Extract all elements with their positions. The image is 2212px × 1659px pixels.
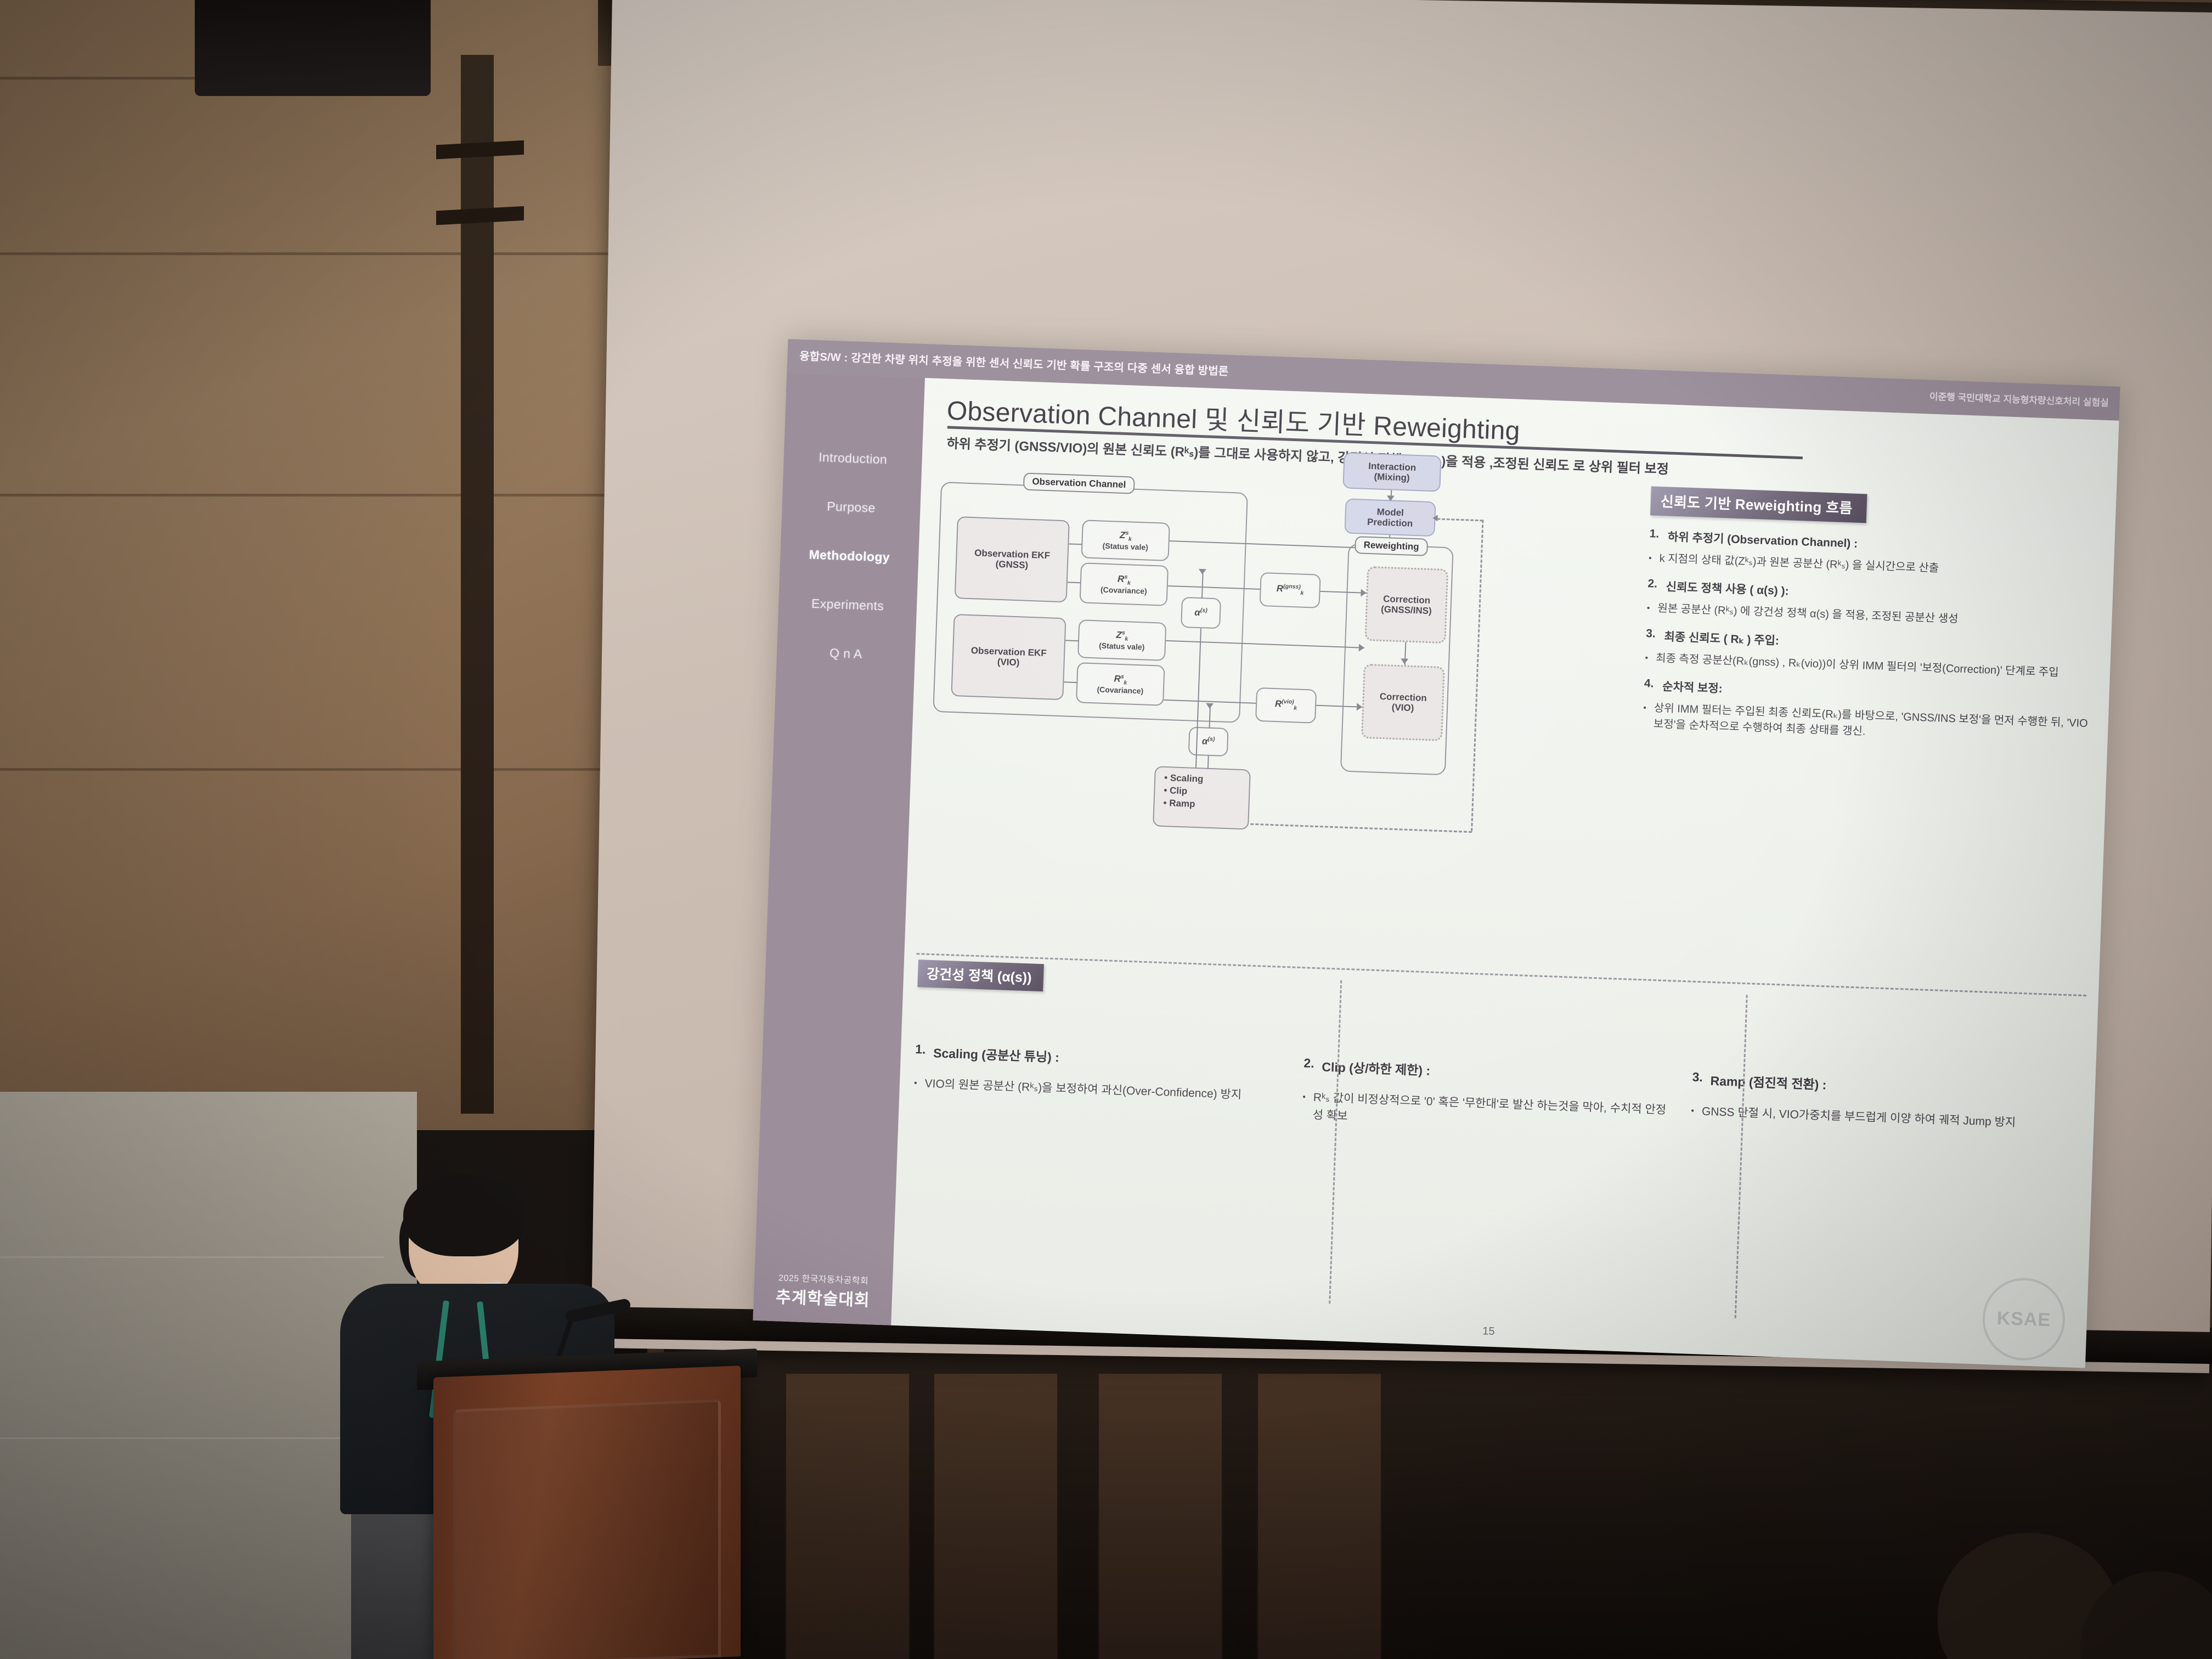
policy-column-ramp: 3. Ramp (점진적 전환) : • GNSS 단절 시, VIO가중치를 … (1690, 1070, 2081, 1151)
r-vio-box: Rsk (Covariance) (1076, 662, 1165, 706)
arrow-up-icon (1206, 703, 1214, 709)
item-body: 상위 IMM 필터는 주입된 최종 신뢰도(Rₖ)를 바탕으로, 'GNSS/I… (1653, 701, 2094, 748)
bullet-icon: • (1302, 1088, 1306, 1123)
slide-nav: Introduction Purpose Methodology Experim… (777, 449, 923, 664)
connector-alpha-lower (1207, 756, 1209, 769)
wall-line (0, 1256, 384, 1258)
r-vio-symbol: Rsk (1114, 673, 1127, 686)
ekf-gnss-line2: (GNSS) (995, 559, 1028, 571)
robustness-policy-section: 강건성 정책 (α(s)) 1. Scaling (공분산 튜닝) : • VI… (917, 960, 2084, 1029)
rk-vio-box: R(vio)k (1255, 687, 1317, 724)
z-gnss-caption: (Status vale) (1102, 541, 1148, 552)
reweighting-flow-panel: 신뢰도 기반 Reweighting 흐름 1. 하위 추정기 (Observa… (1643, 486, 2102, 748)
corr-vio-line1: Correction (1379, 691, 1427, 703)
alpha-policy-box-lower: α(s) (1188, 727, 1229, 757)
flow-diagram: Observation Channel Observation EKF (GNS… (921, 461, 1638, 919)
r-vio-caption: (Covariance) (1097, 685, 1143, 696)
correction-gnss-ins-box: Correction (GNSS/INS) (1364, 566, 1448, 644)
column-bullet: • GNSS 단절 시, VIO가중치를 부드럽게 이양 하여 궤적 Jump … (1691, 1103, 2063, 1133)
door-panel (1097, 1374, 1223, 1659)
model-line1: Model (1376, 506, 1404, 518)
z-vio-box: Zsk (Status vale) (1077, 619, 1166, 661)
rk-gnss-box: R(gnss)k (1260, 572, 1321, 608)
ekf-gnss-line1: Observation EKF (974, 548, 1051, 561)
bullet-icon: • (1643, 700, 1647, 732)
item-number: 4. (1644, 677, 1654, 694)
presentation-slide: 융합S/W : 강건한 차량 위치 추정을 위한 센서 신뢰도 기반 확률 구조… (753, 339, 2120, 1368)
ksae-watermark-logo: KSAE (1981, 1277, 2066, 1362)
item-body: k 지점의 상태 값(Zᵏₛ)과 원본 공분산 (Rᵏₛ) 을 실시간으로 산출 (1659, 551, 1939, 577)
z-vio-caption: (Status vale) (1099, 641, 1145, 652)
z-gnss-box: Zsk (Status vale) (1081, 520, 1170, 561)
r-gnss-caption: (Covariance) (1101, 585, 1147, 596)
column-divider (1329, 980, 1342, 1304)
policy-column-clip: 2. Clip (상/하한 제한) : • Rᵏₛ 값이 비정상적으로 '0' … (1302, 1056, 1693, 1137)
ceiling-speaker (195, 0, 431, 96)
column-title: Scaling (공분산 튜닝) : (933, 1042, 1060, 1065)
policy-column-scaling: 1. Scaling (공분산 튜닝) : • VIO의 원본 공분산 (Rᵏₛ… (913, 1042, 1304, 1123)
wall-seam (0, 494, 631, 496)
slide-page-number: 15 (1482, 1325, 1495, 1338)
alpha-symbol-lower: α(s) (1202, 736, 1215, 747)
column-body: VIO의 원본 공분산 (Rᵏₛ)을 보정하여 과신(Over-Confiden… (924, 1075, 1242, 1104)
r-gnss-symbol: Rsk (1118, 573, 1131, 586)
bullet-icon: • (1646, 600, 1650, 616)
column-header: 1. Scaling (공분산 튜닝) : (915, 1042, 1287, 1074)
wooden-podium (433, 1365, 741, 1659)
column-bullet: • Rᵏₛ 값이 비정상적으로 '0' 혹은 '무한대'로 발산 하는것을 막아… (1302, 1088, 1675, 1136)
column-divider (1735, 995, 1748, 1318)
sidebar-item-methodology[interactable]: Methodology (809, 548, 890, 565)
podium-front-panel (453, 1400, 721, 1659)
door-panel (1256, 1374, 1383, 1659)
feedback-loop-dashed-top (1437, 518, 1483, 521)
column-number: 1. (915, 1042, 926, 1061)
wall-seam (0, 768, 631, 771)
rk-gnss-symbol: R(gnss)k (1276, 583, 1304, 597)
wall-line (0, 1437, 384, 1439)
bullet-icon: • (1645, 650, 1649, 666)
feedback-loop-dashed (1471, 520, 1483, 831)
correction-vio-box: Correction (VIO) (1361, 664, 1445, 741)
arrow-left-icon (1432, 515, 1437, 521)
item-number: 2. (1647, 577, 1658, 594)
arrow-up-icon (1199, 569, 1206, 574)
observation-ekf-gnss-box: Observation EKF (GNSS) (955, 516, 1070, 602)
interaction-mixing-box: Interaction (Mixing) (1342, 452, 1441, 492)
bullet-icon: • (1649, 550, 1652, 566)
column-number: 3. (1692, 1070, 1703, 1089)
door-panel (785, 1374, 911, 1659)
bullet-icon: • (913, 1075, 917, 1092)
interaction-line2: (Mixing) (1374, 471, 1410, 483)
z-gnss-symbol: Zsk (1119, 529, 1132, 543)
arrow-right-icon (1359, 644, 1364, 651)
observation-ekf-vio-box: Observation EKF (VIO) (951, 614, 1066, 700)
model-line2: Prediction (1367, 517, 1413, 529)
policy-columns: 1. Scaling (공분산 튜닝) : • VIO의 원본 공분산 (Rᵏₛ… (913, 1042, 2081, 1151)
reweighting-ribbon: 신뢰도 기반 Reweighting 흐름 (1650, 486, 1867, 523)
column-header: 2. Clip (상/하한 제한) : (1304, 1056, 1676, 1087)
arrow-right-icon (1361, 589, 1366, 597)
model-prediction-box: Model Prediction (1344, 498, 1436, 537)
item-title: 최종 신뢰도 ( Rₖ ) 주입: (1664, 628, 1779, 648)
item-title: 하위 추정기 (Observation Channel) : (1668, 528, 1858, 551)
alpha-symbol-upper: α(s) (1194, 607, 1207, 618)
reweighting-label: Reweighting (1355, 536, 1428, 556)
conference-logo-name: 추계학술대회 (775, 1283, 870, 1311)
policy-bullets-box: Scaling Clip Ramp (1153, 766, 1251, 830)
sidebar-item-qna[interactable]: Q n A (830, 646, 862, 662)
sidebar-item-introduction[interactable]: Introduction (819, 450, 888, 467)
bullet-icon: • (1691, 1103, 1695, 1120)
item-title: 순차적 보정: (1662, 678, 1723, 696)
arrow-right-icon (1357, 703, 1362, 710)
ekf-vio-line1: Observation EKF (970, 645, 1047, 658)
projection-screen: 융합S/W : 강건한 차량 위치 추정을 위한 센서 신뢰도 기반 확률 구조… (590, 0, 2212, 1412)
conference-logo: 2025 한국자동차공학회 추계학술대회 (753, 1256, 893, 1325)
item-title: 신뢰도 정책 사용 ( α(s) ): (1666, 578, 1789, 599)
column-number: 2. (1304, 1056, 1314, 1075)
r-gnss-box: Rsk (Covariance) (1080, 562, 1169, 606)
column-title: Ramp (점진적 전환) : (1710, 1070, 1827, 1093)
item-body: 원본 공분산 (Rᵏₛ) 에 강건성 정책 α(s) 을 적용, 조정된 공분산… (1657, 601, 1959, 628)
sidebar-item-experiments[interactable]: Experiments (811, 596, 884, 614)
arrow-down-icon (1387, 495, 1395, 501)
column-body: GNSS 단절 시, VIO가중치를 부드럽게 이양 하여 궤적 Jump 방지 (1701, 1103, 2016, 1131)
corr-gnss-line2: (GNSS/INS) (1381, 604, 1432, 616)
list-item-bullet: • 상위 IMM 필터는 주입된 최종 신뢰도(Rₖ)를 바탕으로, 'GNSS… (1643, 700, 2095, 748)
item-number: 3. (1646, 627, 1656, 644)
door-panel (933, 1374, 1059, 1659)
column-bullet: • VIO의 원본 공분산 (Rᵏₛ)을 보정하여 과신(Over-Confid… (913, 1075, 1286, 1105)
conference-room-photo: 융합S/W : 강건한 차량 위치 추정을 위한 센서 신뢰도 기반 확률 구조… (0, 0, 2212, 1659)
alpha-policy-box-upper: α(s) (1181, 597, 1221, 629)
z-vio-symbol: Zsk (1116, 629, 1128, 642)
reweighting-list: 1. 하위 추정기 (Observation Channel) : • k 지점… (1643, 527, 2101, 748)
room-wall-upper (0, 0, 647, 1130)
corr-vio-line2: (VIO) (1391, 702, 1414, 713)
ekf-vio-line2: (VIO) (997, 657, 1019, 668)
item-number: 1. (1649, 527, 1660, 544)
rk-vio-symbol: R(vio)k (1274, 698, 1297, 712)
robustness-ribbon: 강건성 정책 (α(s)) (917, 960, 1044, 991)
speaker-hair (403, 1174, 525, 1256)
slide-content-card: 이준행 국민대학교 지능형차량신호처리 실험실 Observation Chan… (891, 378, 2119, 1368)
wall-seam (0, 252, 631, 255)
feedback-loop-dashed-bottom (1250, 823, 1472, 833)
sidebar-item-purpose[interactable]: Purpose (827, 499, 876, 516)
column-header: 3. Ramp (점진적 전환) : (1692, 1070, 2064, 1102)
arrow-down-icon (1401, 658, 1408, 664)
policy-bullet-ramp: Ramp (1163, 797, 1243, 812)
column-body: Rᵏₛ 값이 비정상적으로 '0' 혹은 '무한대'로 발산 하는것을 막아, … (1312, 1089, 1675, 1137)
